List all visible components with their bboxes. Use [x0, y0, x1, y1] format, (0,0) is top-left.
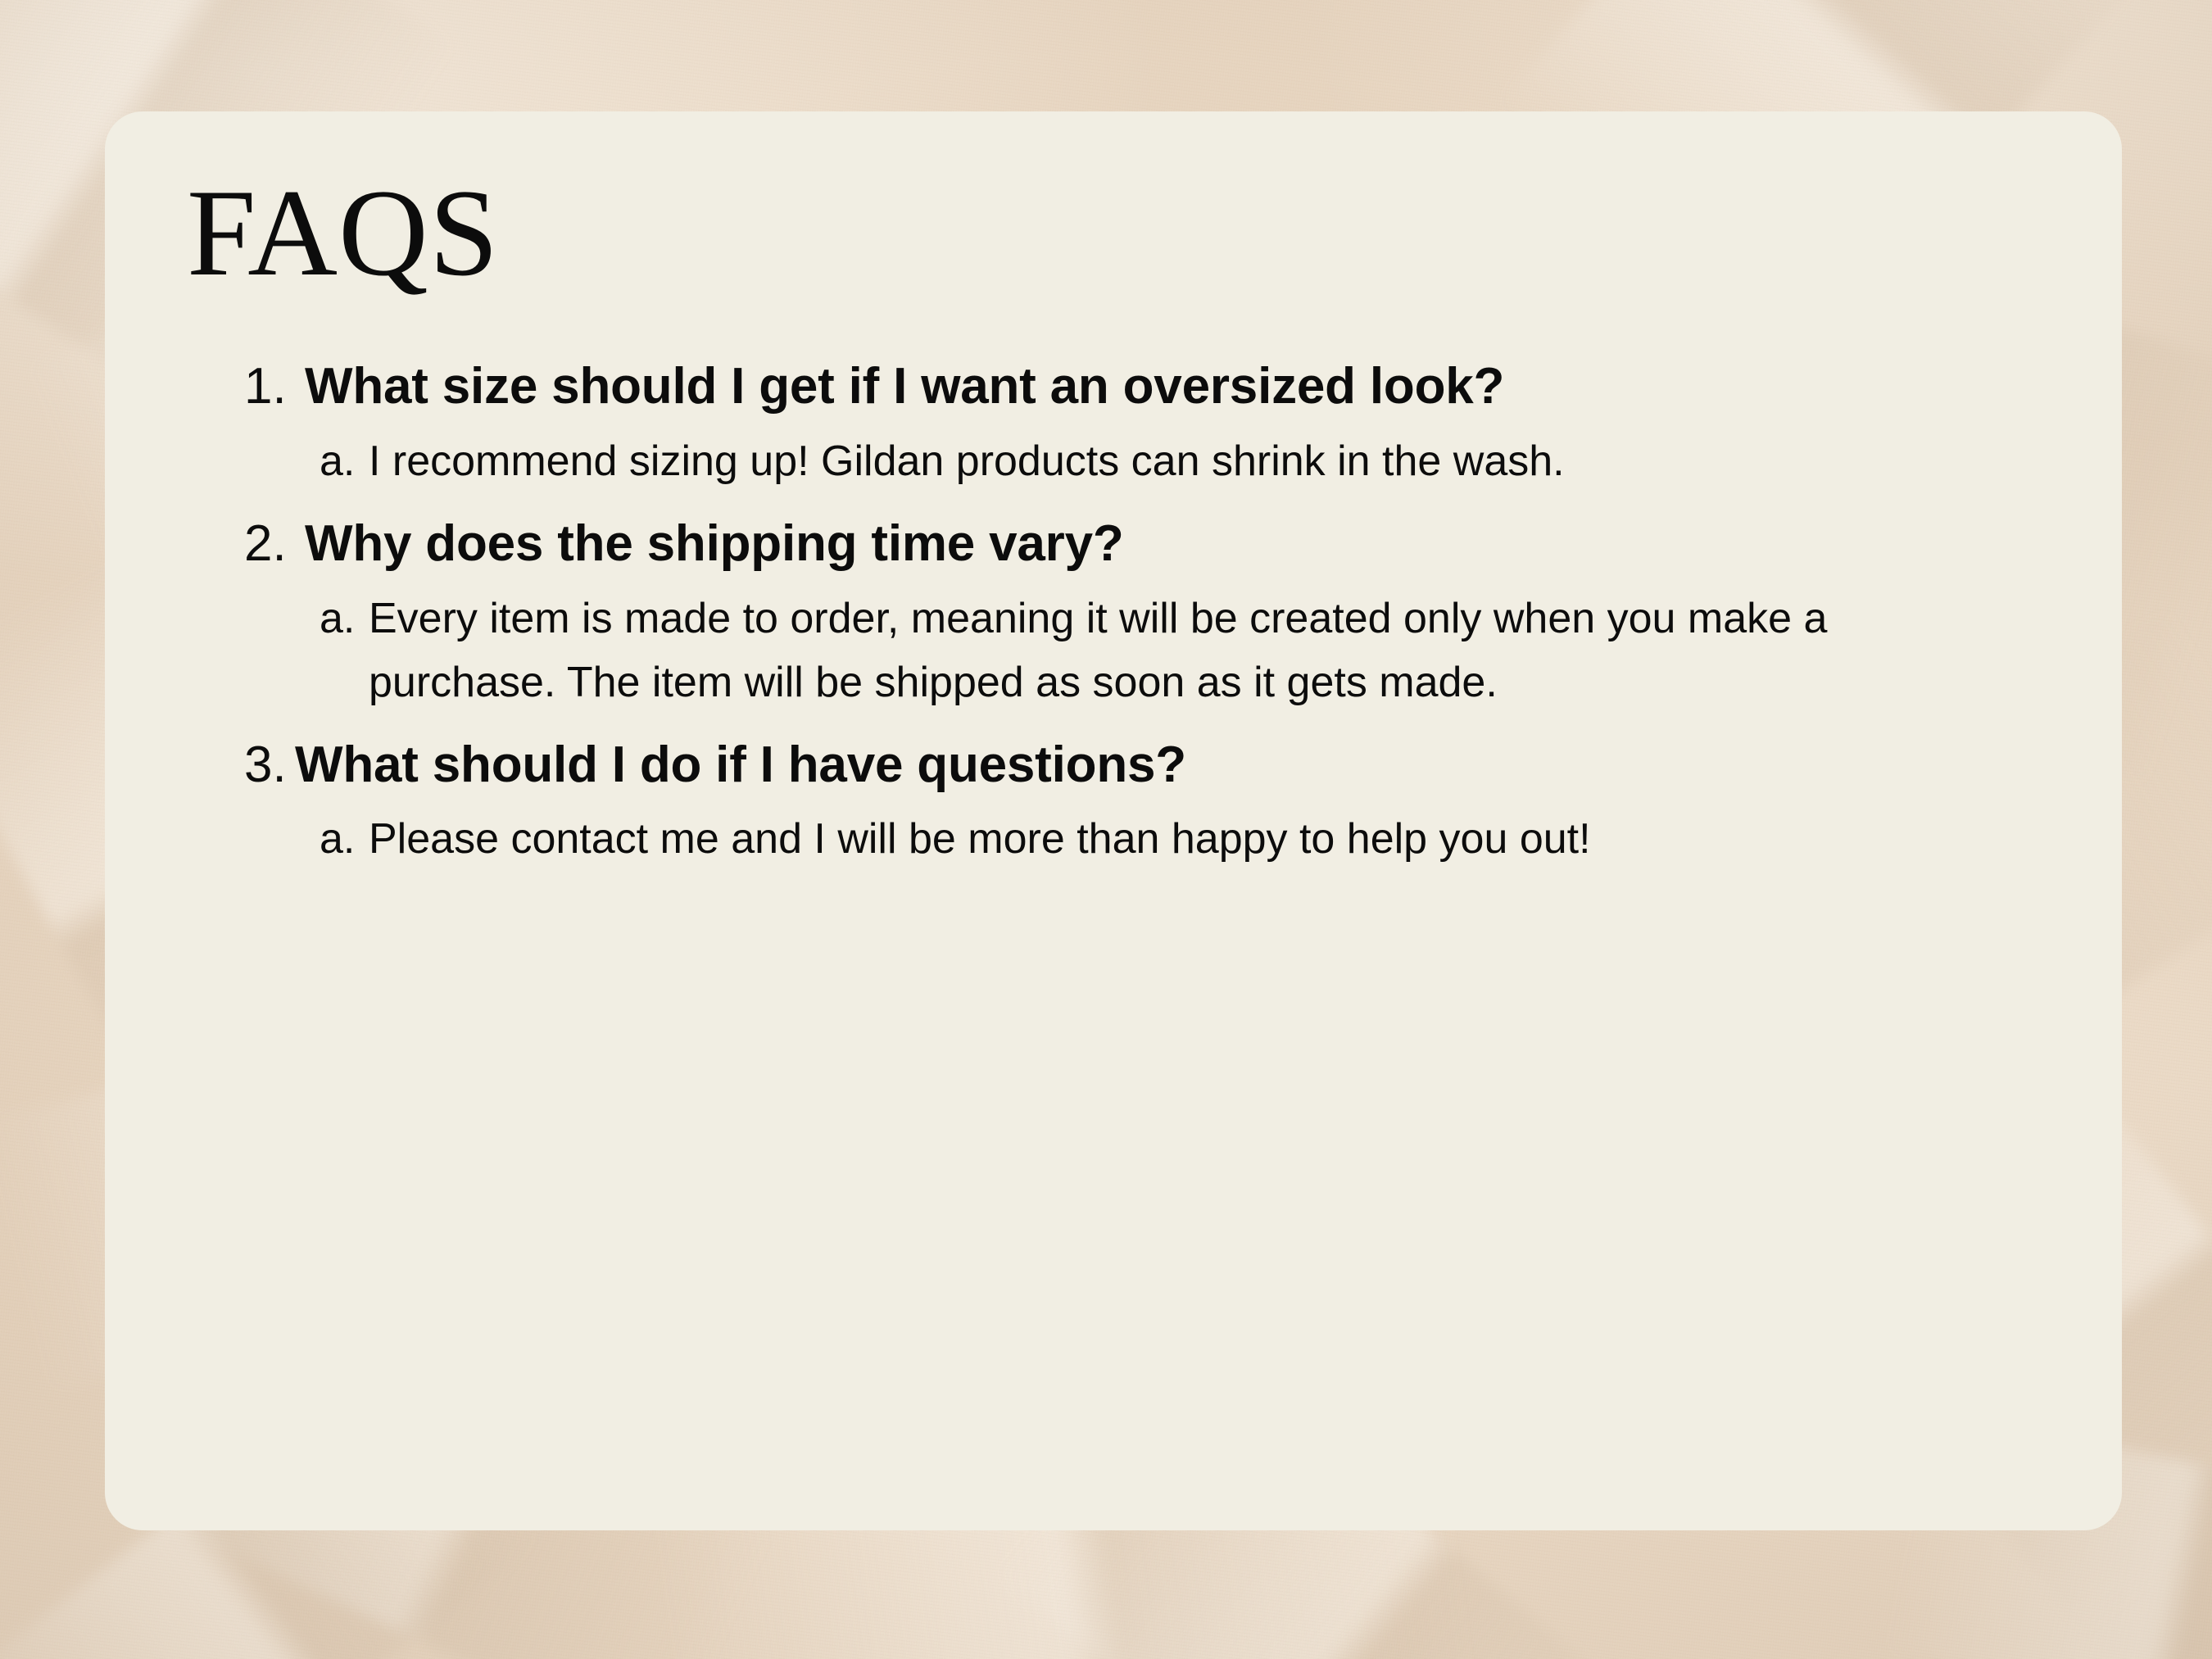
faq-item: 1. What size should I get if I want an o…	[105, 349, 2122, 493]
faq-question-text: What size should I get if I want an over…	[305, 349, 1771, 424]
faq-question-row: 2. Why does the shipping time vary?	[105, 506, 2122, 582]
faq-answer-row: a. I recommend sizing up! Gildan product…	[105, 429, 2122, 493]
faq-question-marker: 3.	[244, 728, 295, 803]
faq-answer-marker: a.	[320, 429, 369, 493]
faq-question-text: What should I do if I have questions?	[295, 728, 1761, 803]
faq-list: 1. What size should I get if I want an o…	[105, 349, 2122, 871]
faq-question-text: Why does the shipping time vary?	[305, 506, 1771, 582]
faq-item: 3. What should I do if I have questions?…	[105, 728, 2122, 872]
page-title: FAQS	[187, 170, 499, 295]
faq-question-marker: 1.	[244, 349, 305, 424]
faq-answer-marker: a.	[320, 807, 369, 871]
faq-answer-row: a. Every item is made to order, meaning …	[105, 587, 2122, 714]
faq-question-marker: 2.	[244, 506, 305, 582]
faq-card: FAQS 1. What size should I get if I want…	[105, 111, 2122, 1530]
faq-answer-text: I recommend sizing up! Gildan products c…	[369, 429, 1966, 493]
faq-answer-row: a. Please contact me and I will be more …	[105, 807, 2122, 871]
faq-item: 2. Why does the shipping time vary? a. E…	[105, 506, 2122, 714]
faq-question-row: 3. What should I do if I have questions?	[105, 728, 2122, 803]
faq-question-row: 1. What size should I get if I want an o…	[105, 349, 2122, 424]
faq-answer-text: Every item is made to order, meaning it …	[369, 587, 1966, 714]
faq-answer-text: Please contact me and I will be more tha…	[369, 807, 1966, 871]
faq-answer-marker: a.	[320, 587, 369, 650]
